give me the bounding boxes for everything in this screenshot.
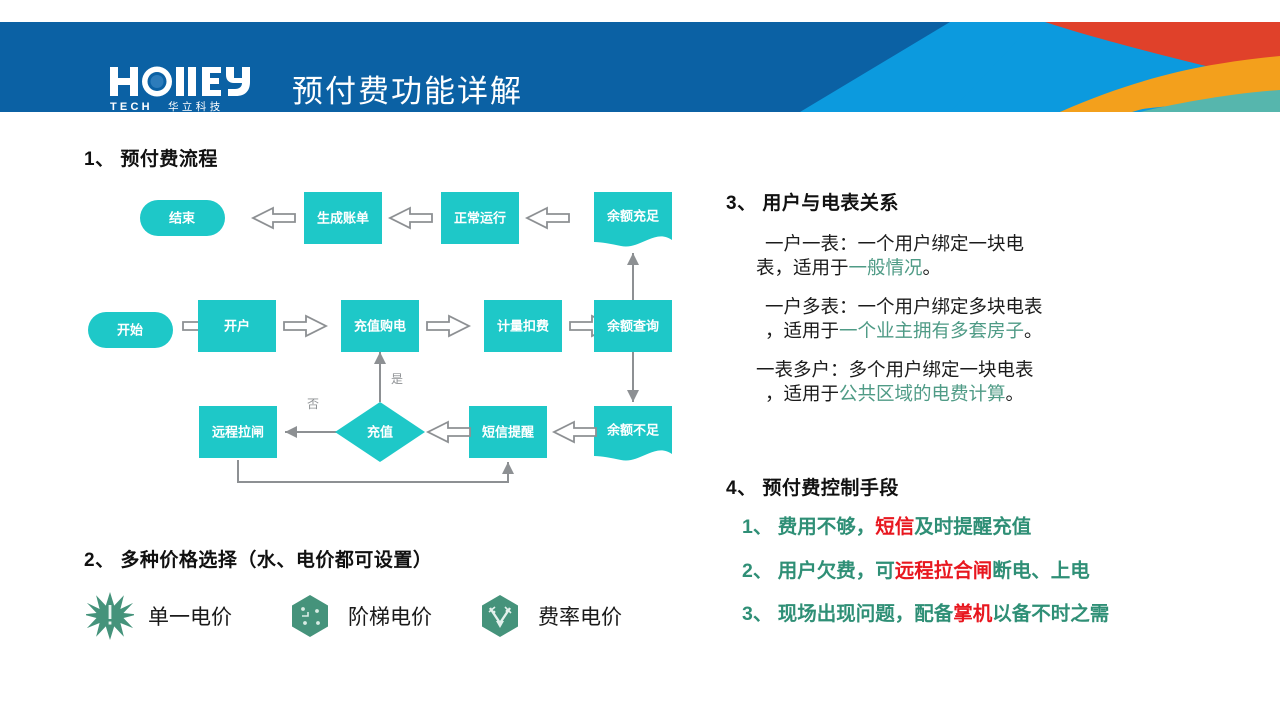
flow-node-sms: 短信提醒	[469, 406, 547, 458]
control-measure-item: 3、 现场出现问题，配备掌机以备不时之需	[742, 605, 1262, 625]
flow-node-topup: 充值	[335, 402, 425, 462]
flow-node-query: 余额查询	[594, 300, 672, 352]
block-arrow-normal-to-bill	[390, 208, 432, 228]
block-arrow-open-to-recharge	[284, 316, 326, 336]
flow-node-start: 开始	[88, 312, 173, 348]
control-measures-list: 1、 费用不够，短信及时提醒充值 2、 用户欠费，可远程拉合闸断电、上电 3、 …	[742, 518, 1262, 649]
edge-label-yes: 是	[391, 372, 403, 386]
control-measure-item: 1、 费用不够，短信及时提醒充值	[742, 518, 1262, 538]
meter-relations-list: 一户一表：一个用户绑定一块电 表，适用于一般情况。 一户多表：一个用户绑定多块电…	[756, 232, 1256, 420]
flow-node-open: 开户	[198, 300, 276, 352]
price-option-tiered: 阶梯电价	[286, 592, 432, 640]
flow-node-notenough-label: 余额不足	[606, 423, 660, 438]
control-measure-item: 2、 用户欠费，可远程拉合闸断电、上电	[742, 562, 1262, 582]
flow-node-open-label: 开户	[224, 319, 250, 334]
block-arrow-enough-to-normal	[527, 208, 569, 228]
relation-2-line2-post: 。	[1024, 320, 1043, 341]
relation-3-line2-post: 。	[1006, 383, 1025, 404]
measure-1-post: 及时提醒充值	[914, 516, 1031, 538]
section-3-heading: 3、 用户与电表关系	[726, 188, 899, 215]
price-option-single: 单一电价	[86, 592, 232, 640]
flow-node-enough: 余额充足	[594, 192, 672, 246]
price-option-single-label: 单一电价	[148, 601, 232, 631]
flow-node-cutoff: 远程拉闸	[199, 406, 277, 458]
measure-2-highlight: 远程拉合闸	[895, 560, 993, 582]
slide-root: TECH 华立科技 预付费功能详解 1、 预付费流程 2、 多种价格选择（水、电…	[0, 0, 1280, 720]
flow-node-recharge: 充值购电	[341, 300, 419, 352]
block-arrow-notenough-to-sms	[554, 422, 596, 442]
relation-3-highlight: 公共区域的电费计算	[839, 383, 1006, 404]
meter-relation-item: 一表多户：多个用户绑定一块电表 ，适用于公共区域的电费计算。	[756, 358, 1256, 407]
relation-3-line1: 一表多户：多个用户绑定一块电表	[756, 359, 1034, 380]
flow-node-start-label: 开始	[117, 323, 143, 338]
flow-node-bill-label: 生成账单	[317, 211, 369, 226]
holley-logo: TECH 华立科技	[108, 65, 260, 112]
relation-1-line2-pre: 表，适用于	[756, 257, 849, 278]
svg-text:华立科技: 华立科技	[168, 100, 224, 112]
price-option-rate: 费率电价	[476, 592, 622, 640]
block-arrow-sms-to-topup	[428, 422, 470, 442]
edge-label-no: 否	[307, 397, 319, 411]
flow-node-query-label: 余额查询	[606, 319, 659, 334]
measure-2-post: 断电、上电	[992, 560, 1090, 582]
flow-node-recharge-label: 充值购电	[354, 319, 406, 334]
price-option-rate-label: 费率电价	[538, 601, 622, 631]
price-option-tiered-label: 阶梯电价	[348, 601, 432, 631]
relation-3-line2-pre: ，适用于	[765, 383, 839, 404]
flow-node-meter-label: 计量扣费	[497, 319, 549, 334]
hexagon-dice-icon	[286, 592, 334, 640]
starburst-icon	[86, 592, 134, 640]
section-4-heading: 4、 预付费控制手段	[726, 473, 899, 500]
measure-1-pre: 1、 费用不够，	[742, 516, 875, 538]
meter-relation-item: 一户一表：一个用户绑定一块电 表，适用于一般情况。	[756, 232, 1256, 281]
header-swoosh-decoration	[760, 22, 1280, 112]
slide-header: TECH 华立科技 预付费功能详解	[0, 22, 1280, 112]
relation-1-highlight: 一般情况	[849, 257, 923, 278]
edge-cutoff-loop-to-sms	[238, 460, 508, 482]
relation-1-line1: 一户一表：一个用户绑定一块电	[765, 233, 1024, 254]
flow-node-sms-label: 短信提醒	[482, 425, 534, 440]
flow-node-cutoff-label: 远程拉闸	[212, 425, 264, 440]
flow-node-end-label: 结束	[169, 211, 196, 226]
flow-node-end: 结束	[140, 200, 225, 236]
holley-logo-mark: TECH 华立科技	[108, 65, 260, 112]
flow-node-topup-label: 充值	[367, 425, 393, 440]
flow-node-normal-label: 正常运行	[454, 211, 506, 226]
relation-2-line2-pre: ，适用于	[765, 320, 839, 341]
page-title: 预付费功能详解	[292, 66, 523, 111]
price-options-row: 单一电价 阶梯电价 费率电价	[86, 592, 706, 648]
flow-node-bill: 生成账单	[304, 192, 382, 244]
flow-node-meter: 计量扣费	[484, 300, 562, 352]
measure-3-pre: 3、 现场出现问题，配备	[742, 603, 953, 625]
relation-2-highlight: 一个业主拥有多套房子	[839, 320, 1024, 341]
prepaid-process-flowchart: 结束 生成账单 正常运行 余额充足	[80, 180, 700, 490]
svg-text:TECH: TECH	[110, 101, 153, 112]
section-2-heading: 2、 多种价格选择（水、电价都可设置）	[84, 545, 432, 572]
measure-2-pre: 2、 用户欠费，可	[742, 560, 895, 582]
measure-3-highlight: 掌机	[953, 603, 992, 625]
flow-node-notenough: 余额不足	[594, 406, 672, 460]
flow-node-normal: 正常运行	[441, 192, 519, 244]
block-arrow-bill-to-end	[253, 208, 295, 228]
relation-1-line2-post: 。	[923, 257, 942, 278]
relation-2-line1: 一户多表：一个用户绑定多块电表	[765, 296, 1043, 317]
section-1-heading: 1、 预付费流程	[84, 144, 218, 171]
meter-relation-item: 一户多表：一个用户绑定多块电表 ，适用于一个业主拥有多套房子。	[756, 295, 1256, 344]
block-arrow-recharge-to-meter	[427, 316, 469, 336]
measure-1-highlight: 短信	[875, 516, 914, 538]
flow-node-enough-label: 余额充足	[606, 209, 660, 224]
hexagon-chart-icon	[476, 592, 524, 640]
measure-3-post: 以备不时之需	[992, 603, 1109, 625]
